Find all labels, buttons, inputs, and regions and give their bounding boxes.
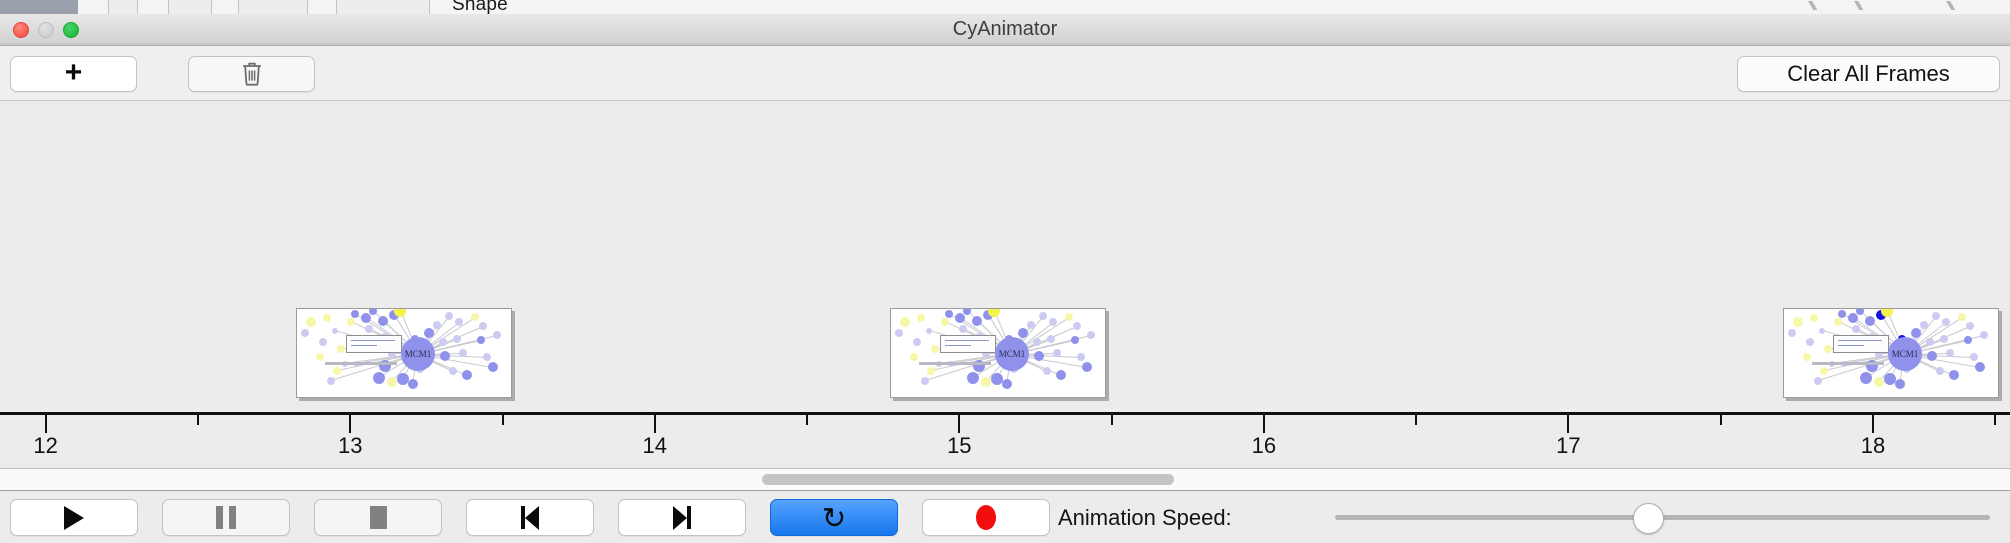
bg-tab bbox=[336, 0, 430, 15]
tooltip-text-line bbox=[351, 340, 395, 341]
network-node bbox=[967, 372, 979, 384]
tooltip-text-line bbox=[1838, 340, 1882, 341]
network-node bbox=[453, 335, 461, 343]
bg-slash-icon bbox=[1852, 1, 1865, 10]
axis-tick-major bbox=[1567, 415, 1569, 433]
network-node bbox=[332, 328, 338, 334]
axis-tick-major bbox=[958, 415, 960, 433]
bg-slash-icon bbox=[1944, 1, 1957, 10]
delete-frame-button[interactable] bbox=[188, 56, 315, 92]
play-icon bbox=[64, 506, 84, 530]
network-node bbox=[1920, 321, 1928, 329]
network-node bbox=[1848, 313, 1858, 323]
bg-tab bbox=[108, 0, 138, 15]
network-node bbox=[1039, 312, 1047, 320]
animation-speed-slider-thumb[interactable] bbox=[1633, 503, 1664, 534]
network-node bbox=[895, 329, 903, 337]
network-node bbox=[449, 367, 457, 375]
network-node-tooltip bbox=[940, 335, 996, 353]
network-node bbox=[1936, 367, 1944, 375]
network-node bbox=[439, 338, 447, 346]
title-bar: CyAnimator bbox=[0, 14, 2010, 46]
network-node bbox=[955, 313, 965, 323]
network-node bbox=[1970, 353, 1978, 361]
network-node bbox=[378, 316, 388, 326]
network-node bbox=[941, 318, 949, 326]
network-node bbox=[1852, 325, 1860, 333]
network-node bbox=[459, 349, 467, 357]
skip-next-button[interactable] bbox=[618, 499, 746, 536]
network-node bbox=[1964, 336, 1972, 344]
network-node bbox=[1053, 349, 1061, 357]
network-node bbox=[1927, 351, 1937, 361]
axis-tick-minor bbox=[806, 415, 808, 425]
network-node bbox=[1793, 317, 1803, 327]
network-node bbox=[316, 353, 324, 361]
bg-dark-tab bbox=[0, 0, 78, 15]
skip-previous-icon bbox=[521, 506, 539, 530]
network-node bbox=[1047, 335, 1055, 343]
network-node bbox=[1820, 367, 1828, 375]
network-node bbox=[1077, 353, 1085, 361]
axis-tick-major bbox=[654, 415, 656, 433]
network-node bbox=[1860, 372, 1872, 384]
network-node bbox=[1946, 349, 1954, 357]
network-node bbox=[1033, 338, 1041, 346]
network-node bbox=[972, 316, 982, 326]
network-node bbox=[1874, 377, 1884, 387]
network-hub-node: MCM1 bbox=[995, 337, 1029, 371]
network-node bbox=[455, 318, 463, 326]
network-node bbox=[1018, 328, 1028, 338]
network-node bbox=[981, 377, 991, 387]
network-node bbox=[1895, 379, 1905, 389]
network-node bbox=[945, 310, 953, 318]
network-node bbox=[1806, 338, 1814, 346]
bg-tab bbox=[168, 0, 212, 15]
network-node bbox=[900, 317, 910, 327]
pause-icon bbox=[216, 506, 236, 529]
network-node bbox=[477, 336, 485, 344]
network-node bbox=[373, 372, 385, 384]
network-node bbox=[1942, 318, 1950, 326]
axis-tick-label: 15 bbox=[947, 433, 971, 459]
network-node bbox=[1065, 313, 1073, 321]
network-node bbox=[1049, 318, 1057, 326]
network-node bbox=[1980, 331, 1988, 339]
network-node bbox=[1073, 322, 1081, 330]
network-node bbox=[910, 353, 918, 361]
window-title: CyAnimator bbox=[0, 18, 2010, 41]
loop-icon: ↻ bbox=[822, 504, 846, 532]
record-icon bbox=[976, 505, 996, 530]
axis-tick-minor bbox=[1720, 415, 1722, 425]
network-node bbox=[493, 331, 501, 339]
network-node bbox=[387, 377, 397, 387]
network-node bbox=[1838, 310, 1846, 318]
network-node bbox=[1966, 322, 1974, 330]
network-node bbox=[1002, 379, 1012, 389]
network-node bbox=[306, 317, 316, 327]
axis-tick-label: 16 bbox=[1252, 433, 1276, 459]
network-node bbox=[913, 338, 921, 346]
axis-tick-minor bbox=[502, 415, 504, 425]
network-node bbox=[351, 310, 359, 318]
axis-tick-major bbox=[349, 415, 351, 433]
toolbar: + Clear All Frames bbox=[0, 46, 2010, 101]
network-node bbox=[462, 370, 472, 380]
network-node bbox=[1027, 321, 1035, 329]
timeline-panel[interactable]: MCM1 MCM1 MCM1 12131415161718 Seconds bbox=[0, 101, 2010, 469]
network-node bbox=[483, 353, 491, 361]
skip-previous-button[interactable] bbox=[466, 499, 594, 536]
tooltip-text-line bbox=[945, 340, 989, 341]
network-node bbox=[1087, 331, 1095, 339]
axis-tick-label: 14 bbox=[643, 433, 667, 459]
network-node bbox=[1975, 362, 1985, 372]
network-node bbox=[488, 362, 498, 372]
axis-tick-major bbox=[45, 415, 47, 433]
network-node bbox=[1926, 338, 1934, 346]
network-node bbox=[408, 379, 418, 389]
network-node bbox=[479, 322, 487, 330]
network-node bbox=[1810, 314, 1818, 322]
network-node bbox=[1819, 328, 1825, 334]
timeline-frame-thumbnail[interactable]: MCM1 bbox=[890, 308, 1106, 398]
axis-tick-minor bbox=[1111, 415, 1113, 425]
network-node bbox=[1911, 328, 1921, 338]
network-preview: MCM1 bbox=[1784, 309, 1998, 397]
record-button[interactable] bbox=[922, 499, 1050, 536]
network-node bbox=[471, 313, 479, 321]
network-node bbox=[1940, 335, 1948, 343]
axis-tick-major bbox=[1263, 415, 1265, 433]
trash-icon bbox=[241, 61, 263, 87]
network-node bbox=[433, 321, 441, 329]
clear-all-frames-label: Clear All Frames bbox=[1787, 61, 1950, 87]
network-node bbox=[361, 313, 371, 323]
animation-speed-label: Animation Speed: bbox=[1058, 505, 1232, 531]
network-node bbox=[1958, 313, 1966, 321]
timeline-frame-thumbnail[interactable]: MCM1 bbox=[296, 308, 512, 398]
network-caption bbox=[1812, 362, 1884, 365]
pause-button[interactable] bbox=[162, 499, 290, 536]
network-node bbox=[1071, 336, 1079, 344]
axis-tick-minor bbox=[197, 415, 199, 425]
network-node bbox=[337, 345, 345, 353]
network-node bbox=[959, 325, 967, 333]
network-node bbox=[1803, 353, 1811, 361]
axis-tick-minor bbox=[1994, 415, 1996, 425]
network-preview: MCM1 bbox=[891, 309, 1105, 397]
network-node bbox=[1932, 312, 1940, 320]
network-node bbox=[1043, 367, 1051, 375]
axis-tick-label: 17 bbox=[1556, 433, 1580, 459]
axis-tick-minor bbox=[1415, 415, 1417, 425]
network-node bbox=[440, 351, 450, 361]
network-node bbox=[327, 377, 335, 385]
network-node bbox=[1865, 316, 1875, 326]
network-node bbox=[333, 367, 341, 375]
network-node bbox=[424, 328, 434, 338]
play-button[interactable] bbox=[10, 499, 138, 536]
network-hub-node: MCM1 bbox=[401, 337, 435, 371]
horizontal-scrollbar-track[interactable] bbox=[0, 469, 2010, 491]
network-node bbox=[1949, 370, 1959, 380]
axis-tick-major bbox=[1872, 415, 1874, 433]
network-node-tooltip bbox=[1833, 335, 1889, 353]
network-node bbox=[445, 312, 453, 320]
network-node bbox=[921, 377, 929, 385]
network-node bbox=[301, 329, 309, 337]
network-node bbox=[988, 308, 1000, 317]
network-preview: MCM1 bbox=[297, 309, 511, 397]
bg-slash-icon bbox=[1806, 1, 1819, 10]
clear-all-frames-button[interactable]: Clear All Frames bbox=[1737, 56, 2000, 92]
tooltip-text-line bbox=[1838, 345, 1864, 346]
network-node bbox=[1788, 329, 1796, 337]
stop-button[interactable] bbox=[314, 499, 442, 536]
network-hub-node: MCM1 bbox=[1888, 337, 1922, 371]
bg-tab bbox=[238, 0, 308, 15]
loop-button[interactable]: ↻ bbox=[770, 499, 898, 536]
network-node bbox=[323, 314, 331, 322]
axis-tick-label: 13 bbox=[338, 433, 362, 459]
network-node-tooltip bbox=[346, 335, 402, 353]
network-node bbox=[931, 345, 939, 353]
timeline-axis bbox=[0, 412, 2010, 415]
network-node bbox=[1814, 377, 1822, 385]
tooltip-text-line bbox=[945, 345, 971, 346]
timeline-frame-thumbnail[interactable]: MCM1 bbox=[1783, 308, 1999, 398]
axis-tick-label: 18 bbox=[1861, 433, 1885, 459]
network-node bbox=[917, 314, 925, 322]
network-node bbox=[347, 318, 355, 326]
tooltip-text-line bbox=[351, 345, 377, 346]
playback-control-bar: ↻ Animation Speed: bbox=[0, 491, 2010, 543]
network-node bbox=[1834, 318, 1842, 326]
network-node bbox=[1082, 362, 1092, 372]
add-frame-button[interactable]: + bbox=[10, 56, 137, 92]
network-node bbox=[1034, 351, 1044, 361]
horizontal-scrollbar-thumb[interactable] bbox=[762, 474, 1174, 485]
network-node bbox=[365, 325, 373, 333]
network-caption bbox=[325, 362, 397, 365]
network-node bbox=[927, 367, 935, 375]
network-caption bbox=[919, 362, 991, 365]
cyanimator-window: CyAnimator + Clear All Frames MCM1 MCM1 bbox=[0, 14, 2010, 510]
skip-next-icon bbox=[673, 506, 691, 530]
axis-tick-label: 12 bbox=[33, 433, 57, 459]
stop-icon bbox=[370, 506, 387, 529]
network-node bbox=[319, 338, 327, 346]
network-node bbox=[926, 328, 932, 334]
network-node bbox=[1881, 308, 1893, 317]
network-node bbox=[394, 308, 406, 317]
network-node bbox=[1056, 370, 1066, 380]
network-node bbox=[1824, 345, 1832, 353]
